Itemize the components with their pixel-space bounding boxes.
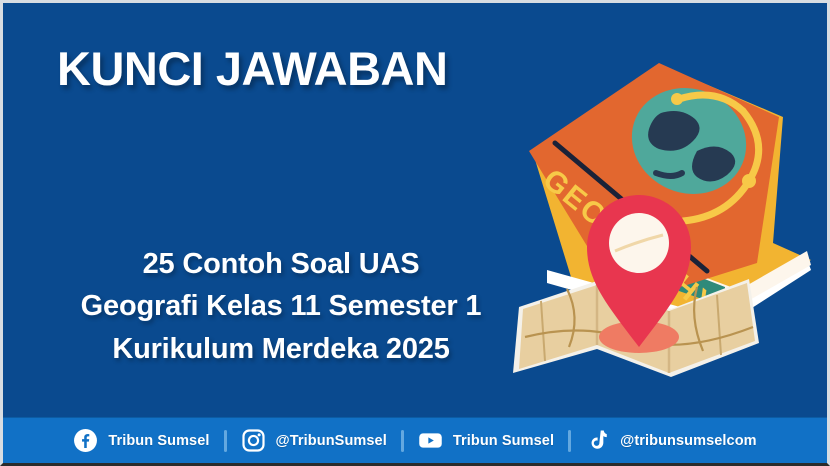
social-label-facebook: Tribun Sumsel xyxy=(108,433,209,449)
poster-canvas: KUNCI JAWABAN GEOGRAPHY xyxy=(0,0,830,466)
social-item-youtube[interactable]: Tribun Sumsel xyxy=(404,428,568,453)
instagram-icon[interactable] xyxy=(241,428,266,453)
social-label-youtube: Tribun Sumsel xyxy=(453,433,554,449)
facebook-icon[interactable] xyxy=(73,428,98,453)
youtube-icon[interactable] xyxy=(418,428,443,453)
title-line-1: 25 Contoh Soal UAS xyxy=(21,243,541,285)
social-item-instagram[interactable]: @TribunSumsel xyxy=(227,428,401,453)
social-footer-bar: Tribun Sumsel @TribunSumsel Tribun Sumse… xyxy=(3,417,827,463)
poster-title: 25 Contoh Soal UAS Geografi Kelas 11 Sem… xyxy=(21,243,541,370)
tiktok-icon[interactable] xyxy=(585,428,610,453)
eyebrow-heading: KUNCI JAWABAN xyxy=(57,41,447,96)
social-item-tiktok[interactable]: @tribunsumselcom xyxy=(571,428,771,453)
social-label-tiktok: @tribunsumselcom xyxy=(620,433,757,449)
title-line-3: Kurikulum Merdeka 2025 xyxy=(21,328,541,370)
title-line-2: Geografi Kelas 11 Semester 1 xyxy=(21,285,541,327)
social-item-facebook[interactable]: Tribun Sumsel xyxy=(59,428,223,453)
geography-illustration: GEOGRAPHY xyxy=(511,55,821,385)
social-label-instagram: @TribunSumsel xyxy=(276,433,387,449)
